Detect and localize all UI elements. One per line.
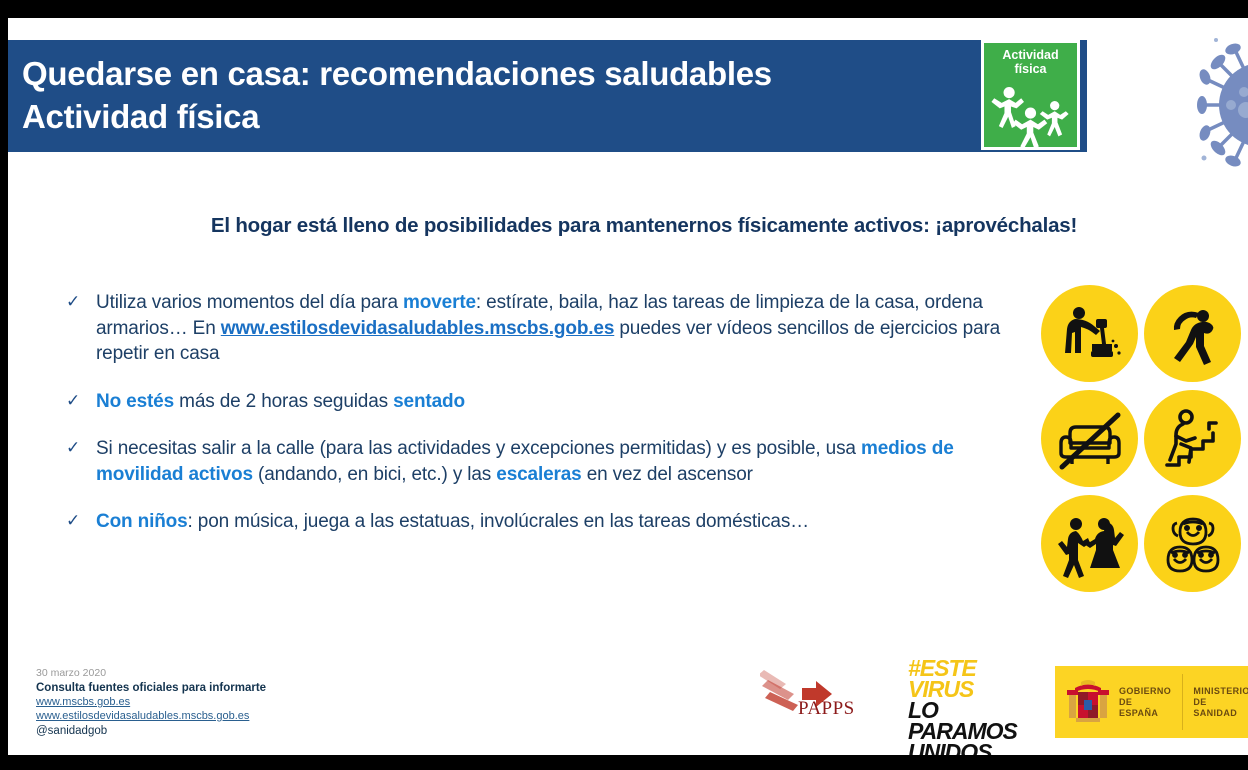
papps-label: PAPPS [798,698,855,720]
gov-divider [1182,674,1183,730]
highlight-text: sentado [393,391,465,412]
bullet-list: ✓ Utiliza varios momentos del día para m… [58,290,1043,557]
highlight-text: No estés [96,391,174,412]
stretching-icon [1144,285,1241,382]
gov-label-primary: GOBIERNO DE ESPAÑA [1119,686,1172,719]
footer-link-mscbs[interactable]: www.mscbs.gob.es [36,695,366,709]
bullet-text: No estés más de 2 horas seguidas sentado [96,389,1043,415]
highlight-text: Con niños [96,511,188,532]
vacuuming-icon [1041,285,1138,382]
page-title: Quedarse en casa: recomendaciones saluda… [22,52,982,138]
plain-text: en vez del ascensor [582,464,753,485]
plain-text: : pon música, juega a las estatuas, invo… [188,511,810,532]
actividad-fisica-badge: Actividad física [981,40,1080,150]
check-icon: ✓ [66,293,84,311]
footer-sources: 30 marzo 2020 Consulta fuentes oficiales… [36,667,366,739]
list-item: ✓ No estés más de 2 horas seguidas senta… [58,389,1043,415]
subtitle: El hogar está lleno de posibilidades par… [84,214,1204,238]
list-item: ✓ Si necesitas salir a la calle (para la… [58,436,1043,487]
no-sofa-icon [1041,390,1138,487]
stairs-icon [1144,390,1241,487]
highlight-text: escaleras [496,464,581,485]
spain-coat-of-arms-icon [1065,674,1111,730]
government-logo: GOBIERNO DE ESPAÑA MINISTERIO DE SANIDAD [1055,666,1248,738]
bullet-text: Utiliza varios momentos del día para mov… [96,290,1043,367]
gov-label-secondary: MINISTERIO DE SANIDAD [1193,686,1248,719]
footer-social-handle: @sanidadgob [36,724,366,739]
plain-text: Si necesitas salir a la calle (para las … [96,438,861,459]
plain-text: más de 2 horas seguidas [174,391,393,412]
footer-heading: Consulta fuentes oficiales para informar… [36,682,366,694]
header-bar: Quedarse en casa: recomendaciones saluda… [8,40,1087,152]
campaign-line-5: UNIDOS [908,742,1053,755]
slide-canvas: Quedarse en casa: recomendaciones saluda… [8,18,1248,755]
footer-date: 30 marzo 2020 [36,667,366,679]
campaign-logo: #ESTE VIRUS LO PARAMOS UNIDOS [908,658,1053,755]
bullet-text: Si necesitas salir a la calle (para las … [96,436,1043,487]
badge-label: Actividad física [984,48,1077,76]
list-item: ✓ Utiliza varios momentos del día para m… [58,290,1043,367]
check-icon: ✓ [66,512,84,530]
pictogram-grid [1041,285,1241,590]
inline-link[interactable]: www.estilosdevidasaludables.mscbs.gob.es [221,318,615,339]
plain-text: (andando, en bici, etc.) y las [253,464,496,485]
coronavirus-icon [1186,30,1248,180]
plain-text: Utiliza varios momentos del día para [96,292,403,313]
highlight-text: moverte [403,292,476,313]
children-faces-icon [1144,495,1241,592]
footer-link-estilos[interactable]: www.estilosdevidasaludables.mscbs.gob.es [36,709,366,723]
dancing-couple-icon [1041,495,1138,592]
bullet-text: Con niños: pon música, juega a las estat… [96,509,1043,535]
check-icon: ✓ [66,392,84,410]
jumping-figures-icon [984,79,1077,149]
list-item: ✓ Con niños: pon música, juega a las est… [58,509,1043,535]
check-icon: ✓ [66,439,84,457]
